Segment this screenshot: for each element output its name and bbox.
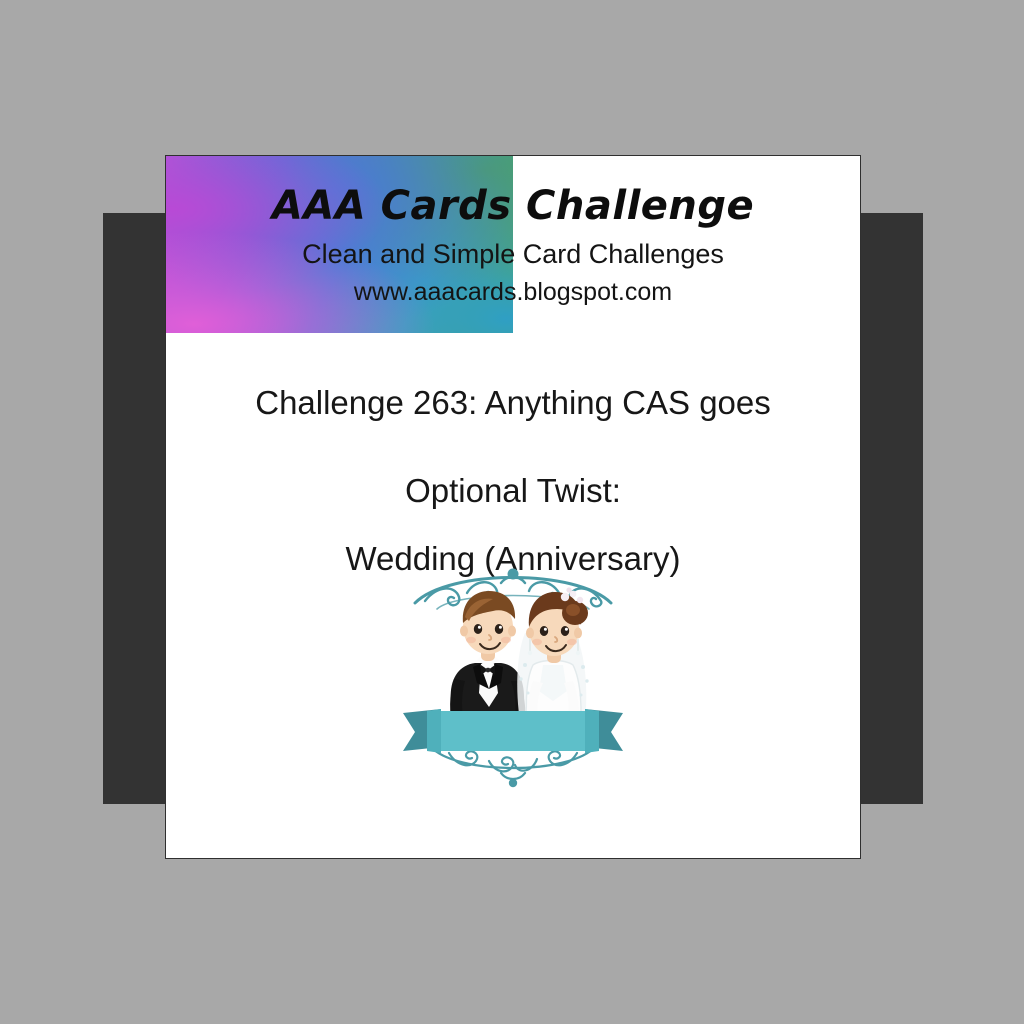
slide-canvas: AAA Cards Challenge Clean and Simple Car… [0,0,1024,1024]
optional-twist-label: Optional Twist: [166,422,860,510]
bottom-flourish-ornament [431,747,595,787]
challenge-announcement-card: AAA Cards Challenge Clean and Simple Car… [166,156,860,858]
masthead-watercolor-swatch [166,156,513,333]
challenge-details: Challenge 263: Anything CAS goes Optiona… [166,342,860,578]
ribbon-banner [403,709,623,753]
challenge-number-line: Challenge 263: Anything CAS goes [166,342,860,422]
wedding-couple-illustration [397,561,629,793]
